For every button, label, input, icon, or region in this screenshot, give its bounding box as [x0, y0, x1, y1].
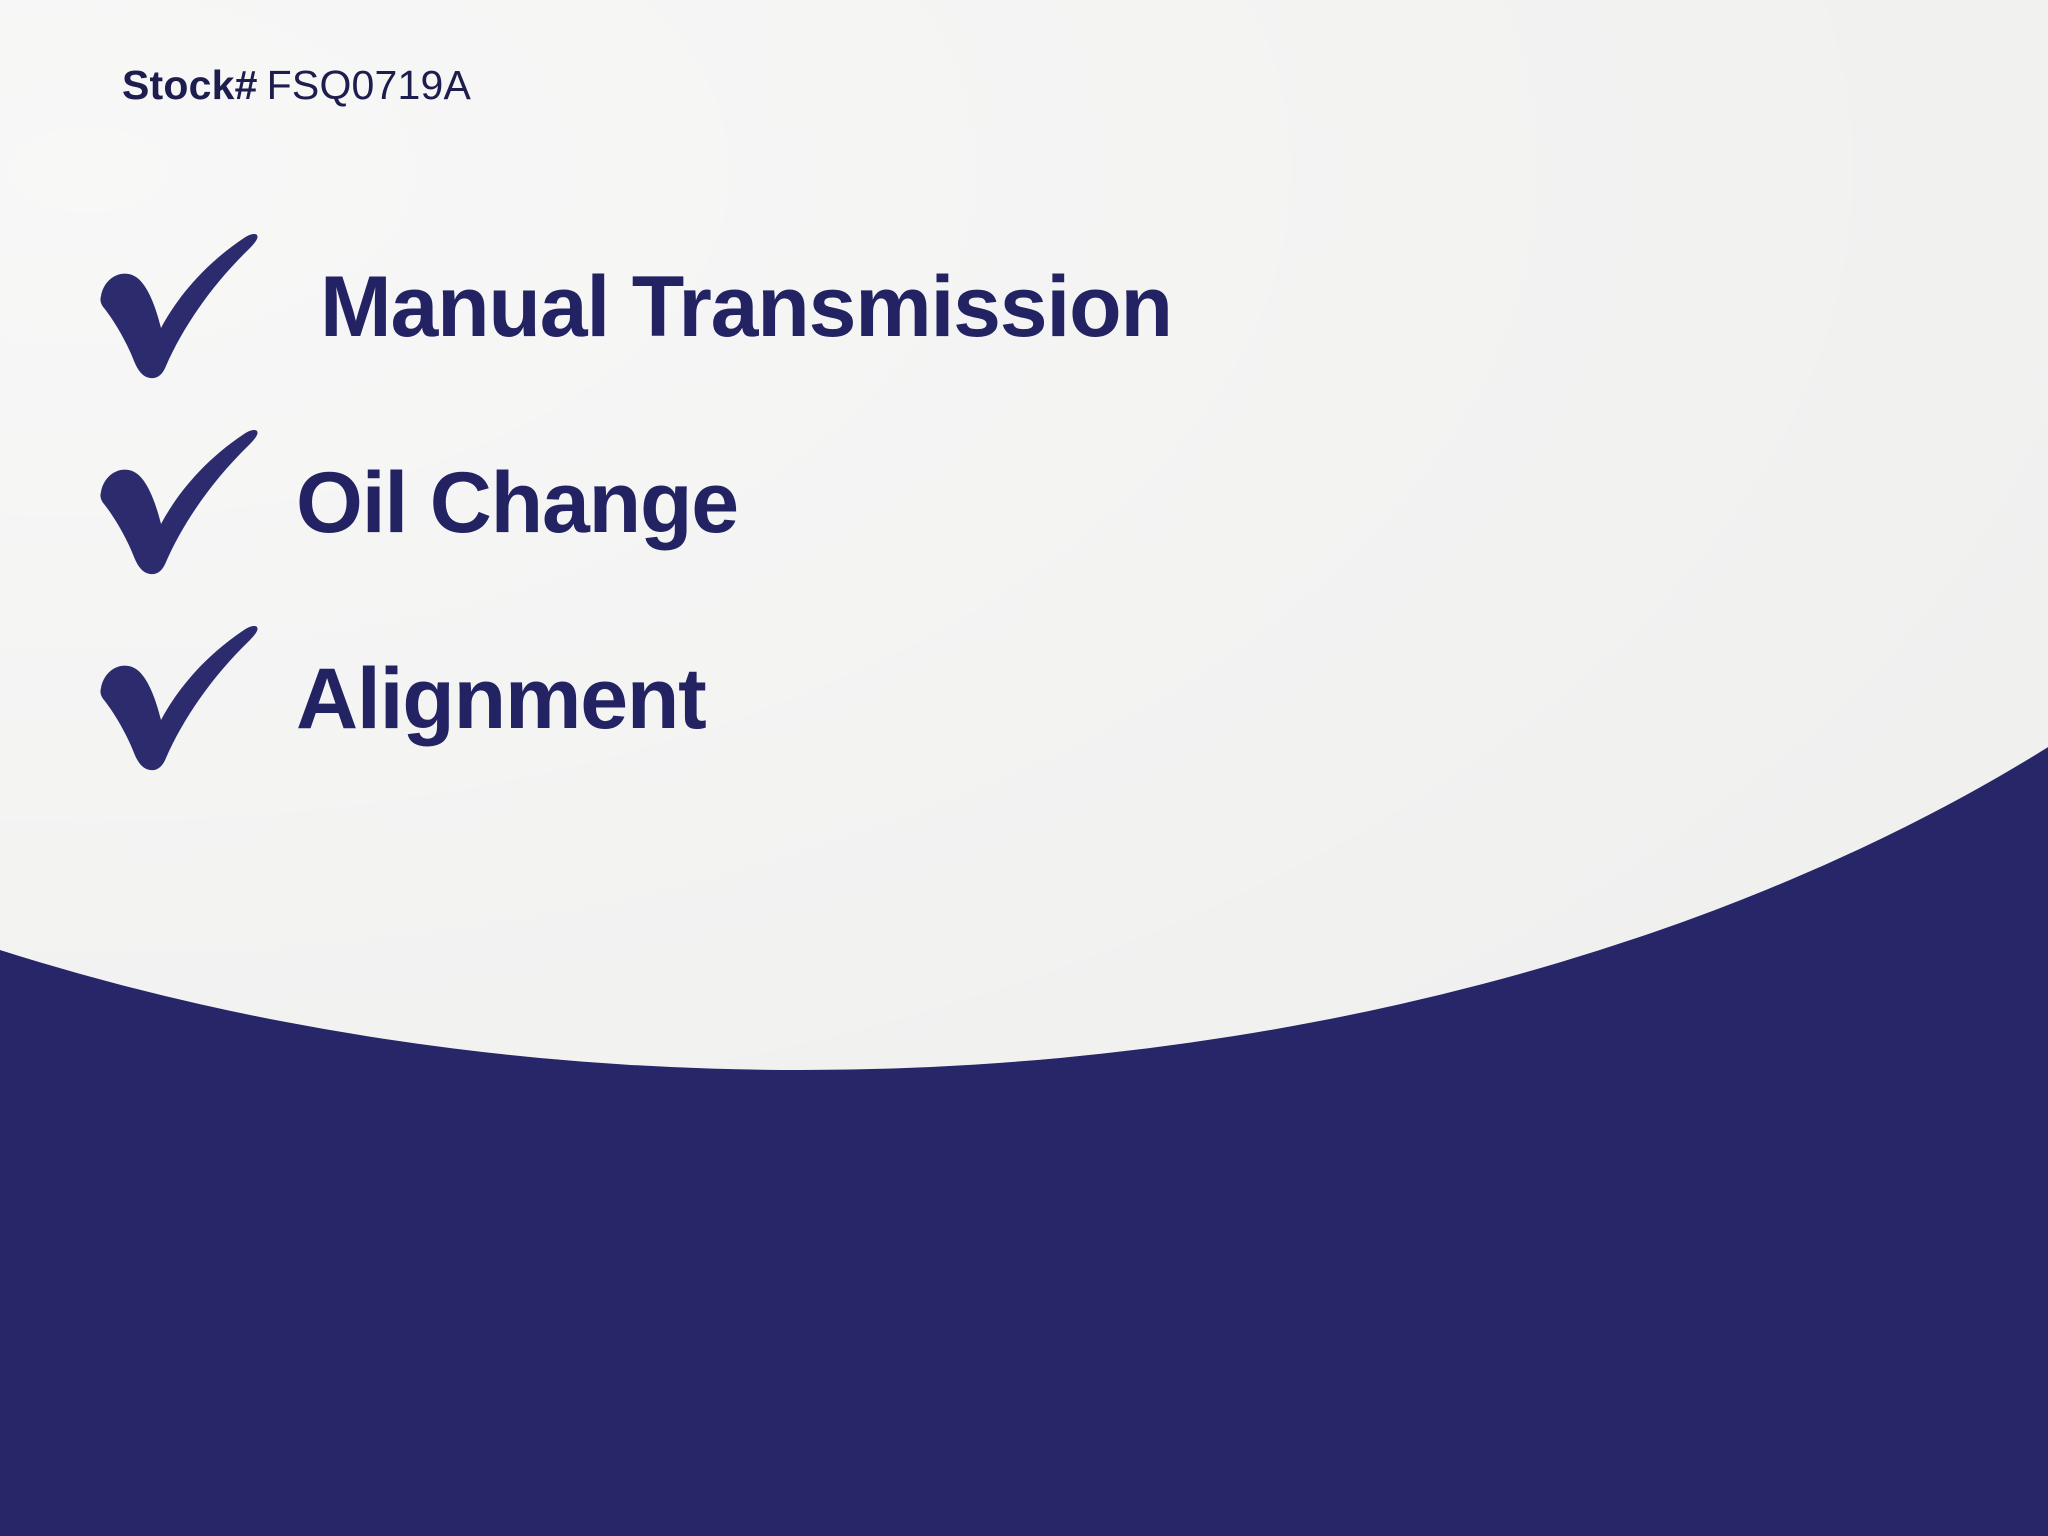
service-checklist: Manual Transmission Oil Change Alignment — [0, 232, 2048, 816]
checklist-item-label: Alignment — [296, 656, 706, 742]
checklist-item-label: Manual Transmission — [320, 264, 1172, 350]
check-mark-icon — [98, 232, 258, 382]
check-mark-icon — [98, 624, 258, 774]
stock-number: Stock#FSQ0719A — [122, 62, 471, 109]
service-checklist-card: Stock#FSQ0719A Manual Transmission Oil — [0, 0, 2048, 1536]
checklist-item: Manual Transmission — [0, 232, 2048, 382]
check-mark-icon — [98, 428, 258, 578]
checklist-item-label: Oil Change — [296, 460, 738, 546]
checklist-item: Oil Change — [0, 428, 2048, 578]
stock-number-label: Stock# — [122, 62, 258, 108]
stock-number-value: FSQ0719A — [267, 62, 471, 108]
card-content: Stock#FSQ0719A Manual Transmission Oil — [0, 0, 2048, 1536]
checklist-item: Alignment — [0, 624, 2048, 774]
